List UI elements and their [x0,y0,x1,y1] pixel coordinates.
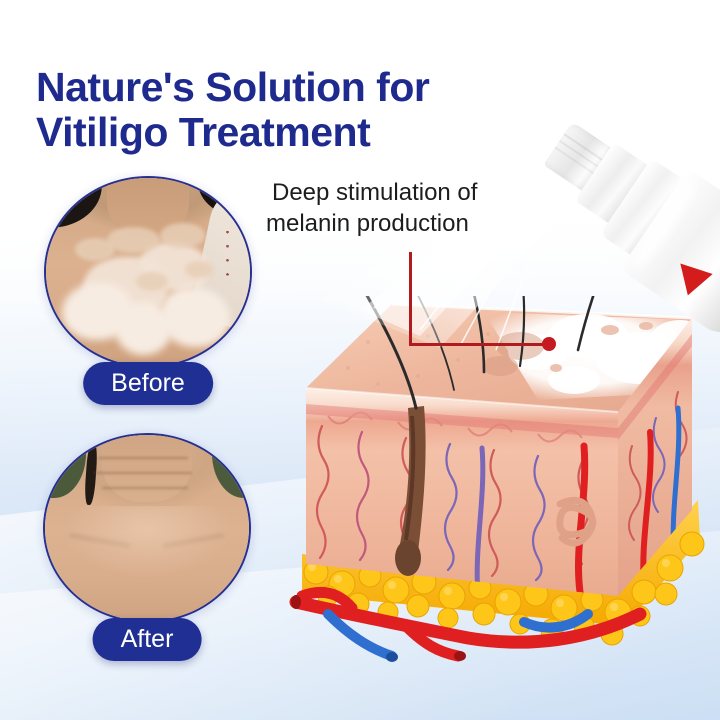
before-garment-dots [217,227,237,291]
after-skin-sheen [45,506,249,621]
leader-line-horizontal [409,343,550,346]
before-pigment-2 [160,223,205,247]
leader-endpoint-dot [542,337,556,351]
title-line-1: Nature's Solution for [36,64,429,110]
title-line-2: Vitiligo Treatment [36,110,556,154]
leader-line-vertical [409,252,412,346]
after-badge: After [93,618,202,661]
before-pigment-4 [136,272,169,291]
annotation-text: Deep stimulation of melanin production [272,178,552,239]
annotation-line-2: melanin production [266,209,552,240]
before-photo [44,176,252,368]
after-photo [43,433,251,623]
after-neck-crease-2 [94,472,192,474]
before-pigment-5 [185,261,214,278]
after-neck-crease-3 [102,487,188,489]
before-badge: Before [83,362,213,405]
before-vitiligo-patch-4 [160,287,229,347]
before-vitiligo-patch-5 [115,302,172,355]
page-title: Nature's Solution for Vitiligo Treatment [36,65,556,154]
after-neck [102,433,192,502]
dermis-front-face [306,388,618,596]
annotation-line-1: Deep stimulation of [272,179,477,206]
after-neck-crease-1 [98,457,188,459]
marketing-graphic: Nature's Solution for Vitiligo Treatment… [0,0,720,720]
before-photo-group: Before [44,176,252,368]
after-photo-group: After [43,433,251,623]
before-pigment-3 [75,238,116,261]
